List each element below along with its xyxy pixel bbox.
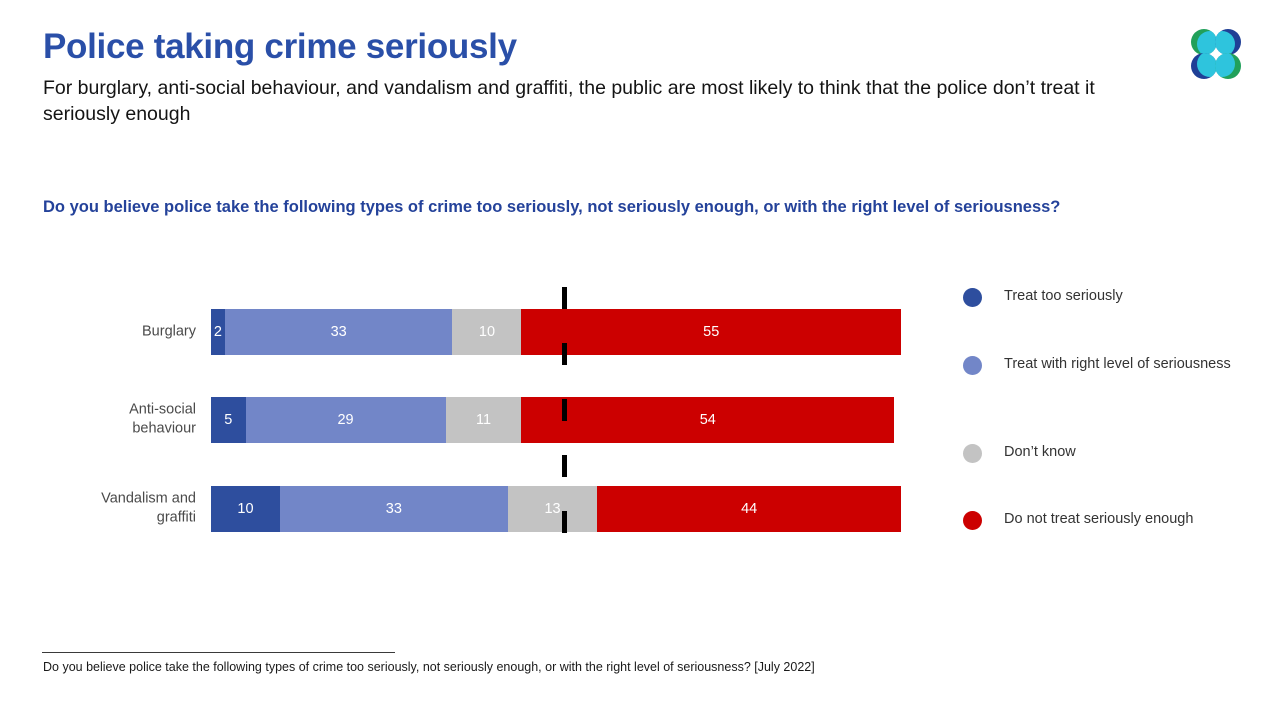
bar-category-label-line: behaviour — [132, 421, 196, 437]
bar-track: 2 33 10 55 — [211, 309, 901, 355]
bar-segment-too-seriously[interactable]: 5 — [211, 397, 246, 443]
legend-swatch-icon — [963, 356, 982, 375]
chart-question: Do you believe police take the following… — [43, 196, 1118, 219]
bar-category-label: Anti-social behaviour — [0, 401, 196, 440]
table-row: Burglary 2 33 10 55 — [0, 309, 940, 355]
four-circles-logo — [1190, 28, 1242, 80]
legend-swatch-icon — [963, 288, 982, 307]
slide-canvas: Police taking crime seriously For burgla… — [0, 0, 1280, 719]
midpoint-reference-line — [562, 287, 567, 556]
legend-item-do-not-treat-seriously-enough[interactable]: Do not treat seriously enough — [963, 510, 1263, 530]
bar-segment-dont-know[interactable]: 11 — [446, 397, 522, 443]
footnote-divider — [42, 652, 395, 653]
legend-item-treat-too-seriously[interactable]: Treat too seriously — [963, 287, 1263, 307]
footnote: Do you believe police take the following… — [43, 659, 1143, 675]
bar-segment-right-level[interactable]: 33 — [225, 309, 453, 355]
legend-swatch-icon — [963, 444, 982, 463]
table-row: Anti-social behaviour 5 29 11 54 — [0, 397, 940, 443]
legend-item-dont-know[interactable]: Don’t know — [963, 443, 1263, 463]
bar-category-label: Burglary — [0, 322, 196, 341]
page-title: Police taking crime seriously — [43, 27, 517, 66]
bar-segment-right-level[interactable]: 33 — [280, 486, 508, 532]
bar-category-label-line: graffiti — [157, 510, 196, 526]
legend-swatch-icon — [963, 511, 982, 530]
bar-segment-too-seriously[interactable]: 10 — [211, 486, 280, 532]
legend-item-label: Do not treat seriously enough — [1004, 510, 1193, 529]
legend-item-treat-right-level[interactable]: Treat with right level of seriousness — [963, 355, 1263, 375]
bar-segment-not-seriously[interactable]: 54 — [521, 397, 894, 443]
bar-segment-too-seriously[interactable]: 2 — [211, 309, 225, 355]
bar-segment-dont-know[interactable]: 13 — [508, 486, 598, 532]
bar-segment-dont-know[interactable]: 10 — [452, 309, 521, 355]
bar-segment-not-seriously[interactable]: 55 — [521, 309, 901, 355]
bar-category-label: Vandalism and graffiti — [0, 490, 196, 529]
bar-segment-right-level[interactable]: 29 — [246, 397, 446, 443]
legend-item-label: Treat too seriously — [1004, 287, 1123, 306]
bar-segment-not-seriously[interactable]: 44 — [597, 486, 901, 532]
page-subtitle: For burglary, anti-social behaviour, and… — [43, 75, 1158, 127]
legend-item-label: Treat with right level of seriousness — [1004, 355, 1231, 374]
bar-category-label-line: Anti-social — [129, 402, 196, 418]
bar-track: 10 33 13 44 — [211, 486, 901, 532]
table-row: Vandalism and graffiti 10 33 13 44 — [0, 486, 940, 532]
legend-item-label: Don’t know — [1004, 443, 1076, 462]
bar-category-label-line: Vandalism and — [101, 491, 196, 507]
bar-track: 5 29 11 54 — [211, 397, 901, 443]
bar-category-label-line: Burglary — [142, 323, 196, 339]
